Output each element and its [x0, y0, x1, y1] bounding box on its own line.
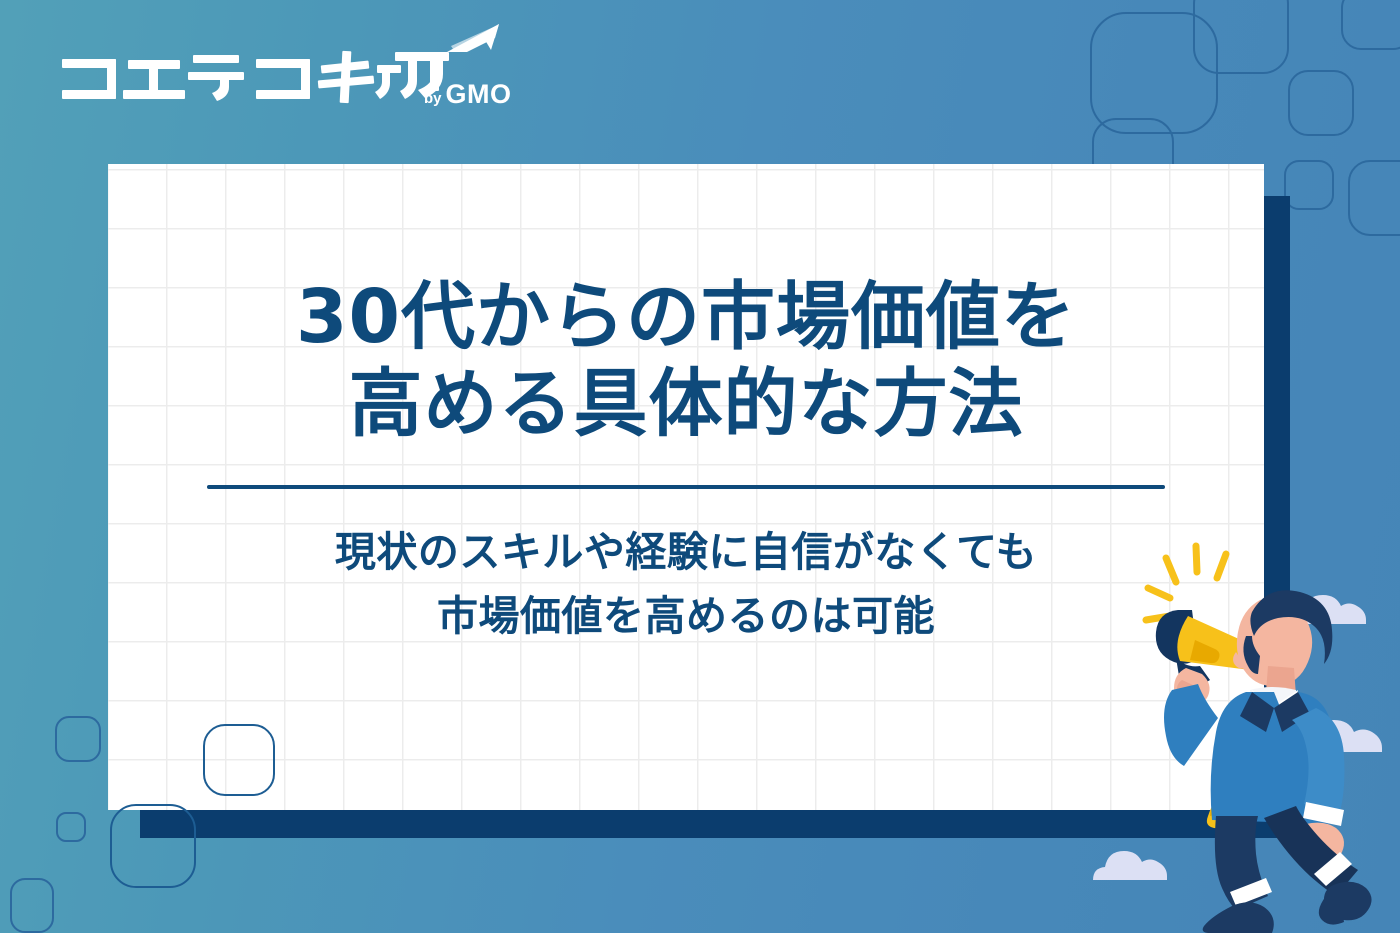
title-divider — [207, 485, 1165, 489]
page-title-line-1: 30代からの市場価値を — [296, 274, 1076, 361]
koeteko-career-logotype-icon — [60, 45, 440, 111]
decor-rounded-square — [1284, 160, 1334, 210]
jacket-sleeve-back — [1164, 684, 1218, 766]
brand-logo[interactable] — [60, 45, 440, 111]
businessman-with-megaphone-illustration — [1100, 540, 1400, 933]
decor-rounded-square — [1288, 70, 1354, 136]
page-subtitle-line-2: 市場価値を高めるのは可能 — [335, 585, 1037, 649]
page-subtitle-line-1: 現状のスキルや経験に自信がなくても — [335, 521, 1037, 585]
decor-rounded-square — [56, 812, 86, 842]
decor-rounded-square — [55, 716, 101, 762]
decor-rounded-square — [1348, 160, 1400, 236]
sound-burst-lines — [1146, 546, 1226, 620]
card-content: 30代からの市場価値を 高める具体的な方法 現状のスキルや経験に自信がなくても … — [108, 164, 1264, 810]
page-subtitle: 現状のスキルや経験に自信がなくても 市場価値を高めるのは可能 — [335, 521, 1037, 648]
decor-rounded-square — [10, 878, 54, 933]
decor-rounded-square — [1341, 0, 1400, 50]
page-title: 30代からの市場価値を 高める具体的な方法 — [296, 274, 1076, 447]
decor-rounded-square — [1090, 12, 1218, 134]
decor-rounded-square — [110, 804, 196, 888]
poster-canvas: by GMO 30代からの市場価値を 高める具体的な方法 現状のスキルや経験に自… — [0, 0, 1400, 933]
navy-shoe-heel — [1319, 896, 1344, 925]
page-title-line-2: 高める具体的な方法 — [296, 361, 1076, 448]
logo-gmo-label: GMO — [446, 79, 512, 110]
logo-by-label: by — [424, 90, 442, 107]
navy-shoe — [1203, 902, 1274, 933]
brand-logo-gmo: by GMO — [424, 79, 512, 110]
